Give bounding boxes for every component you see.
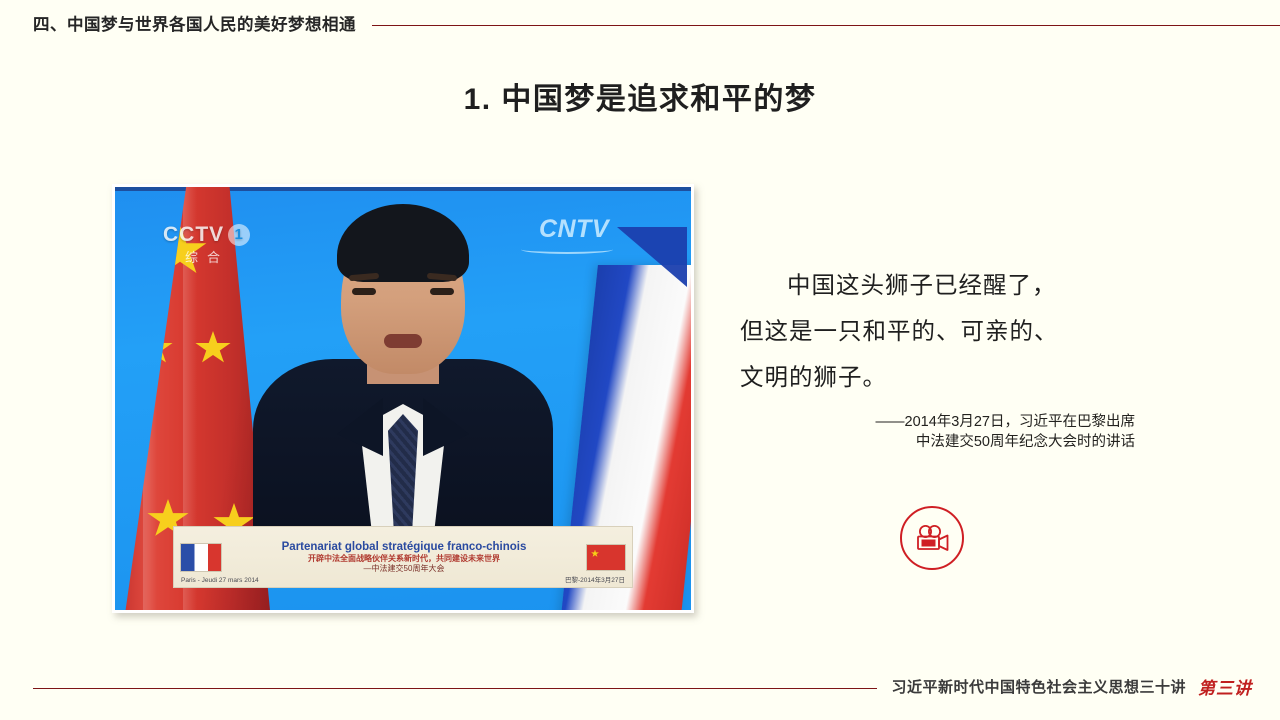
quote-attribution: ——2014年3月27日，习近平在巴黎出席 中法建交50周年纪念大会时的讲话 [740,412,1135,452]
speaker-hair [337,204,469,282]
speaker-eye-left [352,288,376,295]
banner-chinese-subtitle: —中法建交50周年大会 [222,564,586,574]
photo-content: CCTV 1 综合 CNTV Partenariat global straté… [115,187,691,610]
cntv-watermark: CNTV [539,215,609,244]
flag-fold [143,187,157,610]
slide-footer: 习近平新时代中国特色社会主义思想三十讲 第三讲 [0,668,1280,704]
section-title: 四、中国梦与世界各国人民的美好梦想相通 [33,11,356,35]
quote-line-2: 但这是一只和平的、可亲的、 [740,308,1135,354]
page-title: 1. 中国梦是追求和平的梦 [0,74,1280,118]
footer-lecture-badge: 第三讲 [1198,674,1252,699]
video-camera-glyph [913,525,951,551]
speech-photo: CCTV 1 综合 CNTV Partenariat global straté… [112,184,694,613]
speaker-mouth [384,334,422,348]
quote-line-3: 文明的狮子。 [740,354,1135,400]
banner-date-right: 巴黎-2014年3月27日 [565,574,625,584]
footer-series-title: 习近平新时代中国特色社会主义思想三十讲 [891,676,1186,697]
banner-text-group: Partenariat global stratégique franco-ch… [222,540,586,574]
cntv-watermark-underline [521,245,613,254]
speaker-figure [253,204,553,534]
attribution-line-1: ——2014年3月27日，习近平在巴黎出席 [740,412,1135,432]
slide-header: 四、中国梦与世界各国人民的美好梦想相通 [0,0,1280,46]
banner-flag-star [591,550,599,558]
flag-star [137,331,173,365]
cctv-watermark-label: CCTV [163,223,224,247]
podium-banner: Partenariat global stratégique franco-ch… [173,526,633,588]
banner-france-flag [180,543,222,572]
quote-line-1: 中国这头狮子已经醒了， [740,262,1135,308]
banner-french-title: Partenariat global stratégique franco-ch… [222,540,586,554]
quote-block: 中国这头狮子已经醒了， 但这是一只和平的、可亲的、 文明的狮子。 [740,262,1135,400]
video-camera-icon[interactable] [900,506,964,570]
cctv-watermark: CCTV 1 [163,223,250,247]
footer-divider [33,688,877,689]
banner-china-flag [586,544,626,571]
header-divider [372,25,1280,26]
speaker-eye-right [430,288,454,295]
banner-date-left: Paris - Jeudi 27 mars 2014 [181,577,259,584]
flag-star [195,331,231,365]
attribution-line-2: 中法建交50周年纪念大会时的讲话 [740,432,1135,452]
cctv-watermark-subtitle: 综合 [185,247,229,266]
banner-chinese-title: 开辟中法全面战略伙伴关系新时代，共同建设未来世界 [222,554,586,564]
cctv-channel-number: 1 [228,224,250,246]
